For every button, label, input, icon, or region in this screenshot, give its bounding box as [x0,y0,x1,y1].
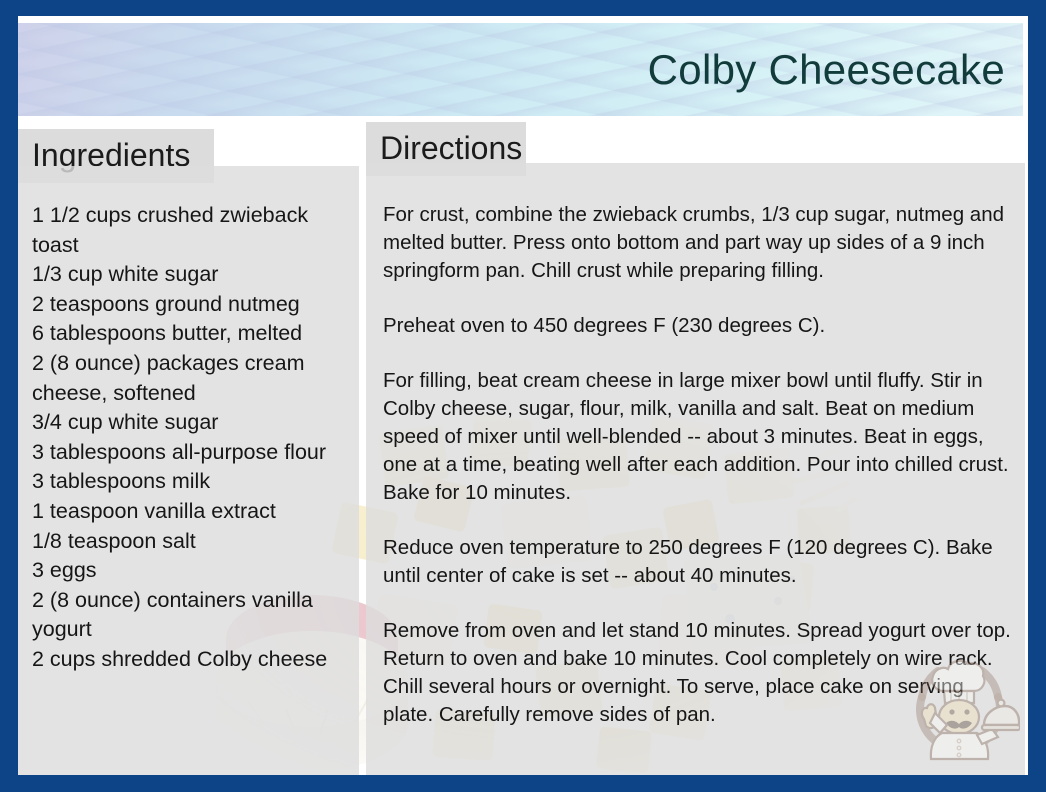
list-item: 2 (8 ounce) containers vanilla yogurt [32,586,343,645]
title-banner: Colby Cheesecake [18,23,1023,116]
page-title: Colby Cheesecake [648,46,1005,94]
ingredients-panel: 1 1/2 cups crushed zwieback toast 1/3 cu… [18,166,359,775]
direction-step: For filling, beat cream cheese in large … [383,367,1013,507]
list-item: 3 eggs [32,556,343,586]
direction-step: For crust, combine the zwieback crumbs, … [383,201,1013,285]
recipe-page: Colby Cheesecake Ingredients 1 1/2 cups … [18,16,1028,775]
list-item: 3 tablespoons milk [32,467,343,497]
list-item: 3 tablespoons all-purpose flour [32,438,343,468]
list-item: 2 (8 ounce) packages cream cheese, softe… [32,349,343,408]
list-item: 6 tablespoons butter, melted [32,319,343,349]
list-item: 1/3 cup white sugar [32,260,343,290]
recipe-card: Colby Cheesecake Ingredients 1 1/2 cups … [0,0,1046,792]
list-item: 1 1/2 cups crushed zwieback toast [32,201,343,260]
ingredients-list: 1 1/2 cups crushed zwieback toast 1/3 cu… [32,201,343,675]
list-item: 2 teaspoons ground nutmeg [32,290,343,320]
list-item: 2 cups shredded Colby cheese [32,645,343,675]
direction-step: Preheat oven to 450 degrees F (230 degre… [383,312,1013,340]
directions-panel: For crust, combine the zwieback crumbs, … [366,163,1025,775]
list-item: 1/8 teaspoon salt [32,527,343,557]
direction-step: Reduce oven temperature to 250 degrees F… [383,534,1013,590]
list-item: 3/4 cup white sugar [32,408,343,438]
list-item: 1 teaspoon vanilla extract [32,497,343,527]
direction-step: Remove from oven and let stand 10 minute… [383,617,1013,729]
